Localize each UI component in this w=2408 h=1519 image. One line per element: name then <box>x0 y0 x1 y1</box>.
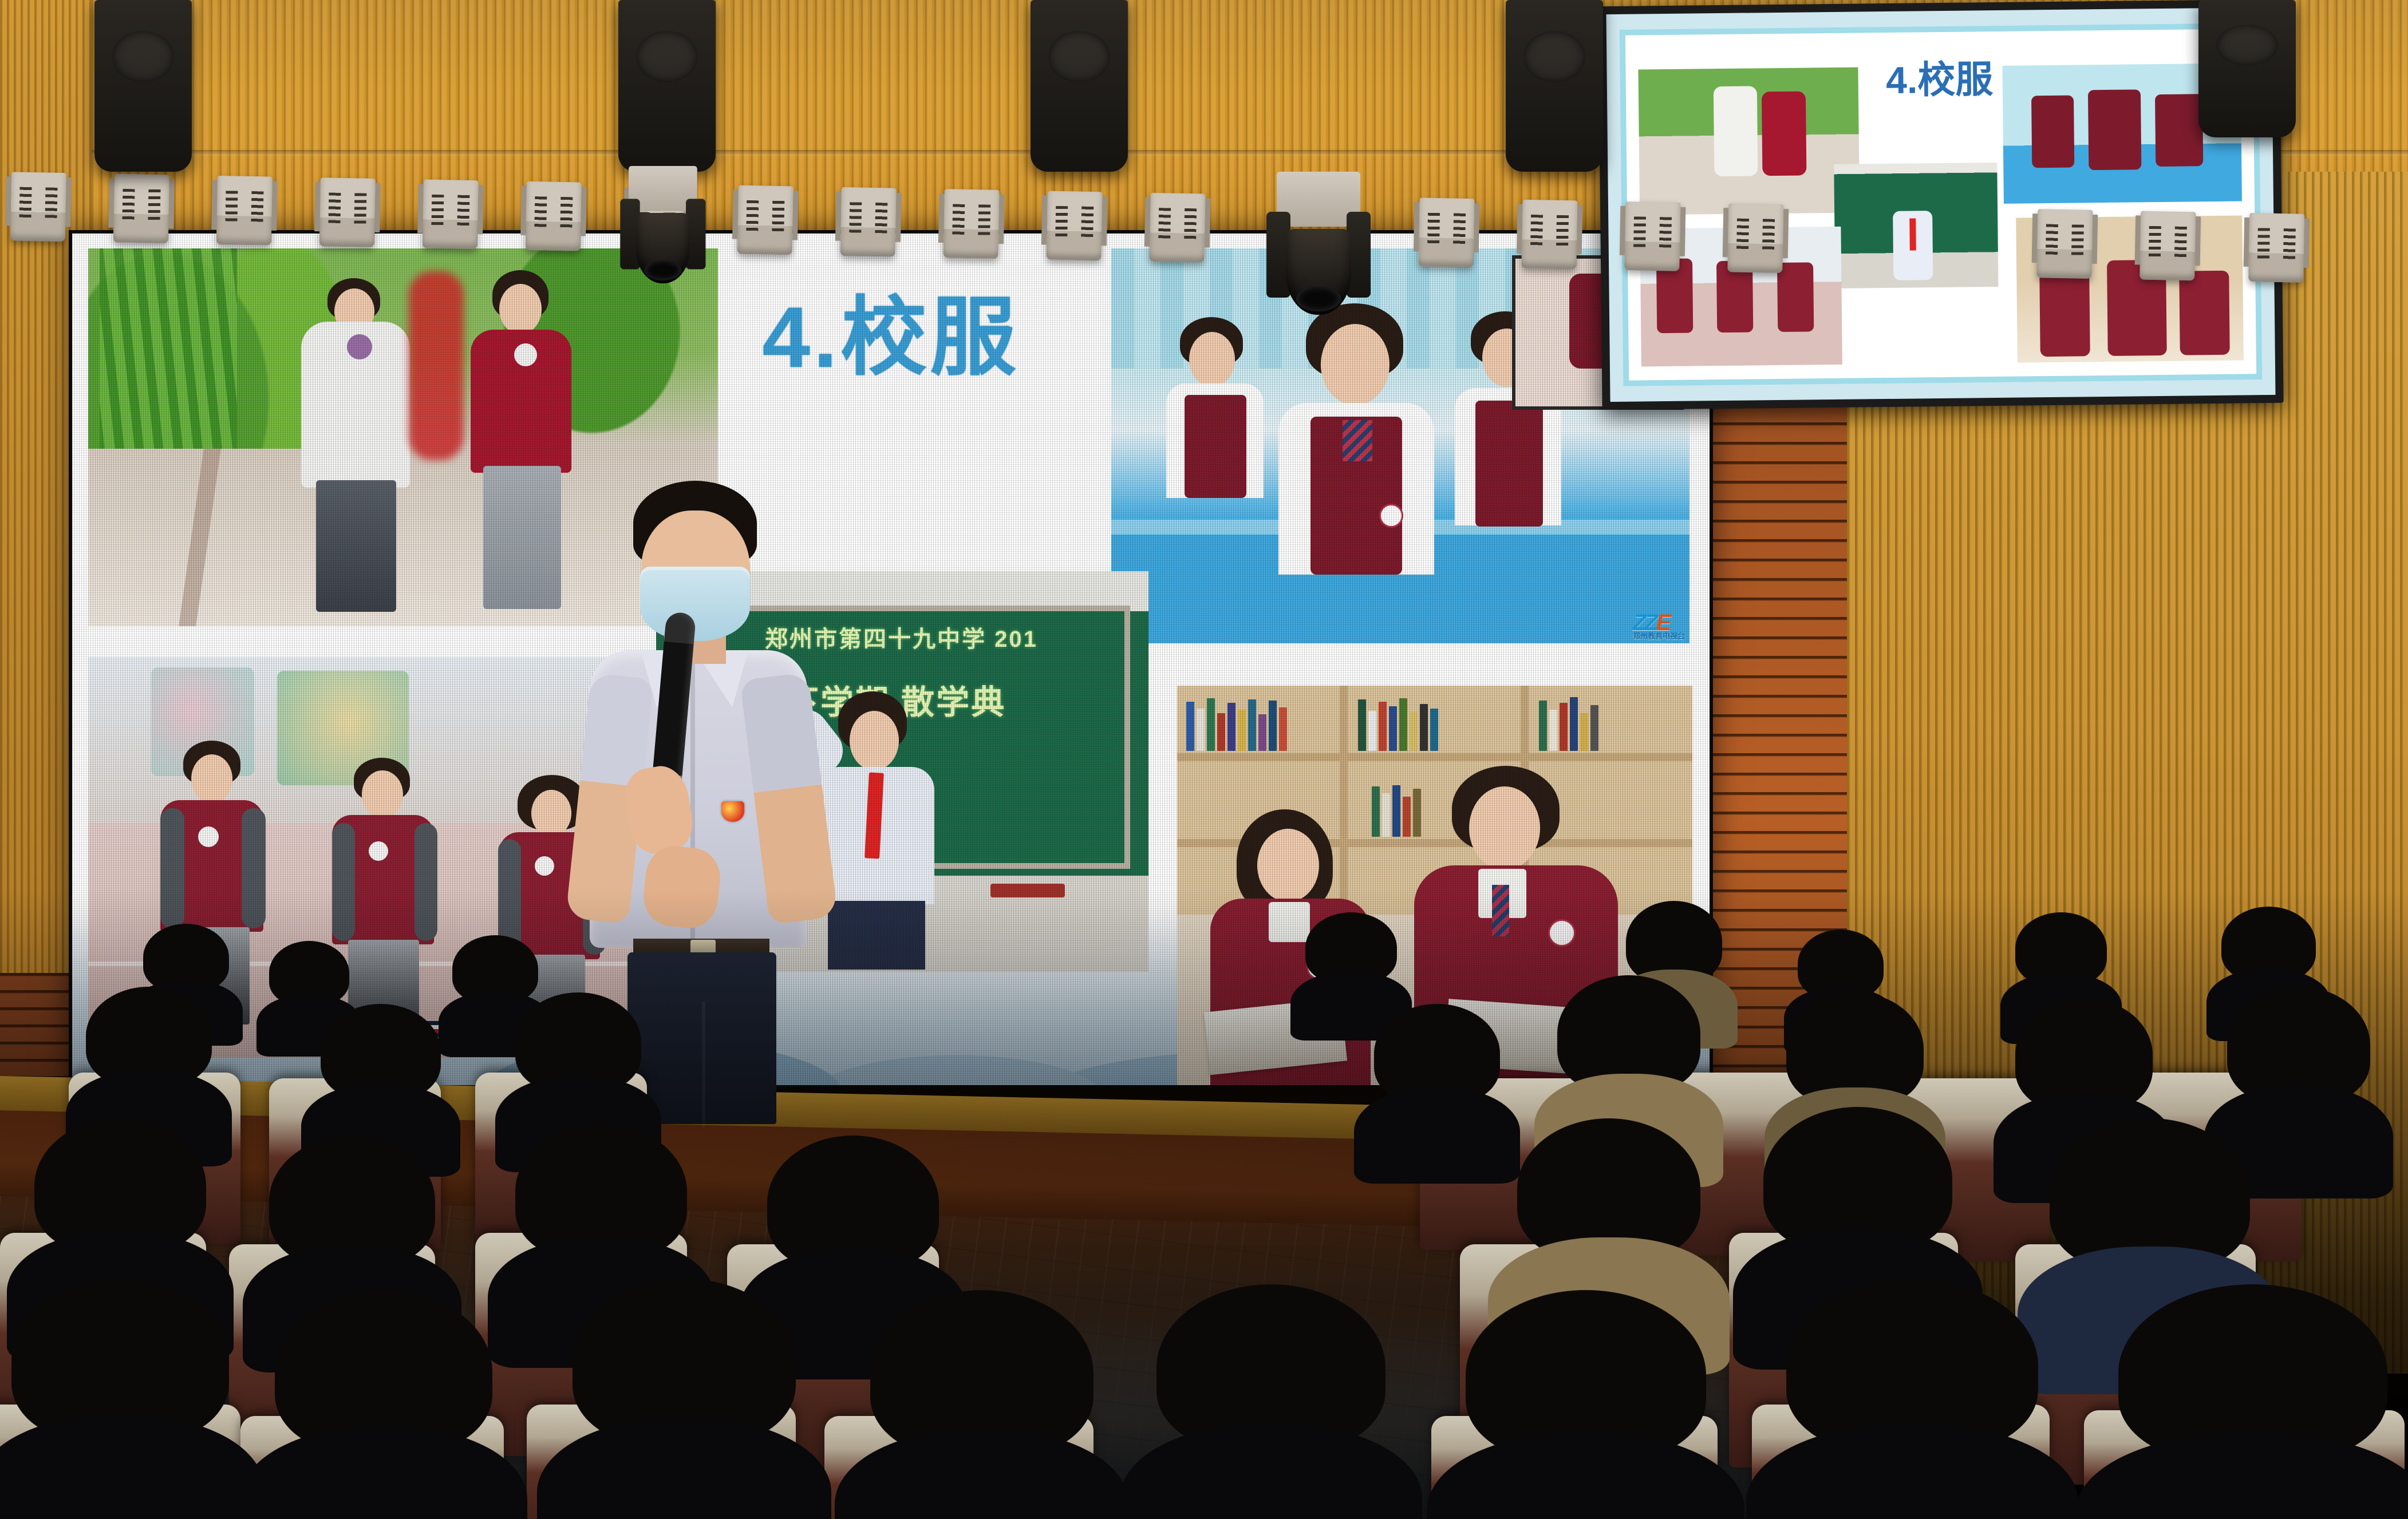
moving-head-spotlight <box>1264 172 1373 321</box>
face-mask-icon <box>640 567 750 641</box>
presenter-hand-lower <box>641 844 723 931</box>
par-light <box>737 185 794 255</box>
hanging-speaker <box>1506 0 1603 172</box>
par-light <box>2036 209 2093 279</box>
slide-photo-library: ZZE郑州教育电视台 <box>1177 686 1692 1085</box>
par-light <box>423 180 479 250</box>
led-screen-surface: 4.校服 <box>72 234 1710 1085</box>
par-light <box>216 176 273 246</box>
par-light <box>113 174 169 244</box>
led-video-wall: 4.校服 <box>69 230 1713 1089</box>
party-emblem-pin-icon <box>721 801 744 822</box>
par-light <box>1521 200 1577 270</box>
auditorium-seat <box>2084 1410 2405 1519</box>
par-light <box>2139 211 2196 281</box>
stage-floor <box>0 1196 1831 1519</box>
auditorium-scene: 4.校服 <box>0 0 2408 1519</box>
par-light <box>1046 191 1102 261</box>
par-light <box>840 187 897 257</box>
slide-watermark: ZZE郑州教育电视台 <box>1633 612 1685 640</box>
par-light <box>10 172 66 242</box>
par-light <box>526 181 582 251</box>
hanging-speaker <box>1031 0 1128 172</box>
tv-photo-students-walking <box>1639 68 1860 215</box>
presenter-trousers <box>627 952 776 1124</box>
par-light <box>1418 197 1474 267</box>
presentation-slide: 4.校服 <box>72 234 1710 1085</box>
presenter <box>578 481 819 1116</box>
hanging-speaker <box>618 0 716 172</box>
moving-head-spotlight <box>618 166 708 288</box>
tv-slide-title: 4.校服 <box>1886 49 1993 105</box>
slide-watermark: ZZE郑州教育电视台 <box>1636 1055 1688 1083</box>
hanging-speaker <box>94 0 192 172</box>
par-light <box>2248 213 2304 283</box>
slide-title: 4.校服 <box>762 268 1019 392</box>
par-light <box>319 177 376 247</box>
hanging-speaker <box>2198 0 2296 137</box>
par-light <box>1624 201 1680 271</box>
par-light <box>1149 193 1205 263</box>
par-light <box>944 189 1000 259</box>
par-light <box>1727 203 1783 273</box>
